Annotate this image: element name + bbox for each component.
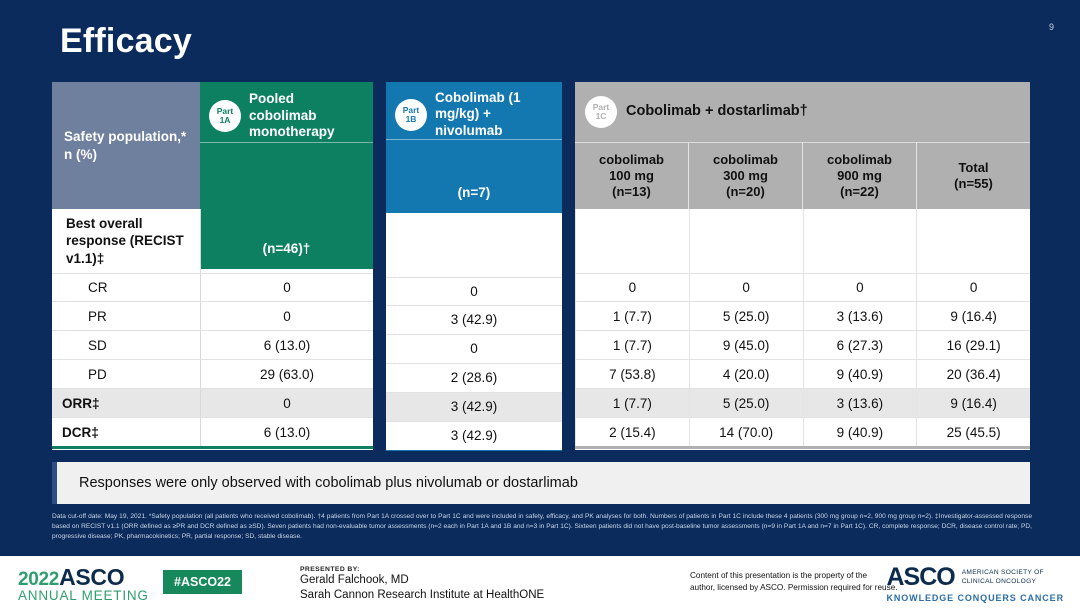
table-row: 1 (7.7) 9 (45.0) 6 (27.3) 16 (29.1) bbox=[575, 330, 1030, 359]
spacer-cell bbox=[916, 209, 1030, 273]
row-value: 5 (25.0) bbox=[689, 389, 803, 417]
row-value: 7 (53.8) bbox=[575, 360, 689, 388]
asco-annual-meeting-logo: 2022ASCO ANNUAL MEETING bbox=[18, 564, 149, 603]
spacer-cell bbox=[386, 213, 562, 277]
asco-sub-line-1: AMERICAN SOCIETY OF bbox=[962, 569, 1044, 578]
part-badge-1b: Part 1B bbox=[395, 99, 427, 131]
table-row: PD 29 (63.0) bbox=[52, 359, 373, 388]
table-row: 0 bbox=[386, 277, 562, 305]
row-value: 0 bbox=[386, 335, 562, 363]
subheader-total: Total (n=55) bbox=[916, 142, 1030, 209]
footnotes: Data cut-off date: May 19, 2021. *Safety… bbox=[52, 512, 1032, 542]
row-value: 3 (42.9) bbox=[386, 393, 562, 421]
table-row: 2 (15.4) 14 (70.0) 9 (40.9) 25 (45.5) bbox=[575, 417, 1030, 446]
part1b-accent-bar bbox=[386, 450, 562, 451]
row-value: 0 bbox=[689, 274, 803, 301]
efficacy-table: Safety population,* n (%) Part 1A Pooled… bbox=[52, 82, 1030, 450]
block-gap bbox=[373, 82, 386, 450]
row-value: 3 (13.6) bbox=[803, 389, 917, 417]
table-row: PR 0 bbox=[52, 301, 373, 330]
spacer-cell bbox=[575, 209, 689, 273]
asco-society-logo: ASCO AMERICAN SOCIETY OF CLINICAL ONCOLO… bbox=[886, 565, 1064, 603]
row-value: 6 (27.3) bbox=[803, 331, 917, 359]
table-row: 2 (28.6) bbox=[386, 363, 562, 392]
subheader-cobolimab-900: cobolimab 900 mg (n=22) bbox=[802, 142, 916, 209]
part1b-n: (n=7) bbox=[386, 139, 562, 212]
presented-by-caption: PRESENTED BY: bbox=[300, 566, 544, 573]
row-value: 1 (7.7) bbox=[575, 302, 689, 330]
table-row: 3 (42.9) bbox=[386, 392, 562, 421]
row-value: 0 bbox=[200, 302, 373, 330]
part1a-header: Part 1A Pooled cobolimab monotherapy (n=… bbox=[200, 82, 373, 209]
part1b-title: Cobolimab (1 mg/kg) + nivolumab bbox=[435, 90, 553, 139]
table-row: DCR‡ 6 (13.0) bbox=[52, 417, 373, 446]
row-value: 5 (25.0) bbox=[689, 302, 803, 330]
asco-tagline: KNOWLEDGE CONQUERS CANCER bbox=[886, 593, 1064, 603]
table-row: 1 (7.7) 5 (25.0) 3 (13.6) 9 (16.4) bbox=[575, 301, 1030, 330]
subheader-cobolimab-100: cobolimab 100 mg (n=13) bbox=[575, 142, 688, 209]
row-label: PD bbox=[52, 360, 200, 388]
part1c-title: Cobolimab + dostarlimab† bbox=[626, 103, 808, 121]
row-value: 9 (45.0) bbox=[689, 331, 803, 359]
row-value: 2 (28.6) bbox=[386, 364, 562, 392]
table-row: 7 (53.8) 4 (20.0) 9 (40.9) 20 (36.4) bbox=[575, 359, 1030, 388]
row-value: 6 (13.0) bbox=[200, 418, 373, 446]
asco-logo-subtitle: AMERICAN SOCIETY OF CLINICAL ONCOLOGY bbox=[962, 565, 1044, 587]
table-row: CR 0 bbox=[52, 273, 373, 301]
table-block-part1b: Part 1B Cobolimab (1 mg/kg) + nivolumab … bbox=[386, 82, 562, 450]
row-value: 0 bbox=[200, 274, 373, 301]
table-row: 3 (42.9) bbox=[386, 305, 562, 334]
row-value: 9 (40.9) bbox=[803, 418, 917, 446]
row-value: 3 (42.9) bbox=[386, 306, 562, 334]
row-value: 1 (7.7) bbox=[575, 389, 689, 417]
table-block-part1c: Part 1C Cobolimab + dostarlimab† cobolim… bbox=[575, 82, 1030, 450]
row-value: 16 (29.1) bbox=[916, 331, 1030, 359]
row-value: 9 (16.4) bbox=[916, 302, 1030, 330]
section-header-row: Best overall response (RECIST v1.1)‡ bbox=[52, 209, 373, 273]
row-value: 4 (20.0) bbox=[689, 360, 803, 388]
presenter-info: PRESENTED BY: Gerald Falchook, MD Sarah … bbox=[300, 566, 544, 603]
row-label: ORR‡ bbox=[52, 389, 200, 417]
page-title: Efficacy bbox=[60, 22, 192, 61]
subheader-cobolimab-300: cobolimab 300 mg (n=20) bbox=[688, 142, 802, 209]
row-value: 3 (13.6) bbox=[803, 302, 917, 330]
section-header-spacer-b bbox=[386, 213, 562, 277]
table-row: 0 bbox=[386, 334, 562, 363]
part-badge-1c: Part 1C bbox=[585, 96, 617, 128]
slide-number: 9 bbox=[1049, 22, 1054, 32]
table-row: 1 (7.7) 5 (25.0) 3 (13.6) 9 (16.4) bbox=[575, 388, 1030, 417]
table-row: 0 0 0 0 bbox=[575, 273, 1030, 301]
row-value: 20 (36.4) bbox=[916, 360, 1030, 388]
row-label: DCR‡ bbox=[52, 418, 200, 446]
key-message-banner: Responses were only observed with coboli… bbox=[52, 462, 1030, 504]
footer-annual-meeting: ANNUAL MEETING bbox=[18, 588, 149, 603]
row-value: 1 (7.7) bbox=[575, 331, 689, 359]
part1c-subheaders: cobolimab 100 mg (n=13) cobolimab 300 mg… bbox=[575, 142, 1030, 209]
row-value: 0 bbox=[575, 274, 689, 301]
table-row: ORR‡ 0 bbox=[52, 388, 373, 417]
row-value: 29 (63.0) bbox=[200, 360, 373, 388]
part1a-accent-bar bbox=[52, 446, 373, 449]
row-value: 0 bbox=[803, 274, 917, 301]
asco-logo-text: ASCO bbox=[886, 565, 954, 590]
table-row: SD 6 (13.0) bbox=[52, 330, 373, 359]
presenter-affiliation: Sarah Cannon Research Institute at Healt… bbox=[300, 588, 544, 603]
rights-notice: Content of this presentation is the prop… bbox=[690, 570, 898, 594]
part1c-title-cell: Part 1C Cobolimab + dostarlimab† bbox=[575, 82, 1030, 142]
section-header-spacer-a bbox=[200, 209, 373, 273]
row-value: 9 (16.4) bbox=[916, 389, 1030, 417]
part1a-title-cell: Part 1A Pooled cobolimab monotherapy bbox=[200, 82, 373, 142]
rights-line-2: author, licensed by ASCO. Permission req… bbox=[690, 582, 898, 594]
part-badge-1a: Part 1A bbox=[209, 100, 241, 132]
asco-sub-line-2: CLINICAL ONCOLOGY bbox=[962, 578, 1044, 587]
section-header-spacer-c bbox=[575, 209, 1030, 273]
header-row-top: Safety population,* n (%) Part 1A Pooled… bbox=[52, 82, 373, 209]
row-value: 14 (70.0) bbox=[689, 418, 803, 446]
safety-population-header: Safety population,* n (%) bbox=[52, 82, 200, 209]
table-row: 3 (42.9) bbox=[386, 421, 562, 450]
part1a-title: Pooled cobolimab monotherapy bbox=[249, 91, 364, 140]
presenter-name: Gerald Falchook, MD bbox=[300, 573, 544, 588]
section-header-label: Best overall response (RECIST v1.1)‡ bbox=[52, 209, 200, 273]
part1b-title-cell: Part 1B Cobolimab (1 mg/kg) + nivolumab bbox=[386, 82, 562, 139]
banner-text: Responses were only observed with coboli… bbox=[57, 475, 578, 491]
row-label: PR bbox=[52, 302, 200, 330]
row-value: 0 bbox=[200, 389, 373, 417]
spacer-cell bbox=[803, 209, 917, 273]
slide-canvas: 9 Efficacy Safety population,* n (%) Par… bbox=[0, 0, 1080, 608]
row-value: 3 (42.9) bbox=[386, 422, 562, 450]
table-block-part1a: Safety population,* n (%) Part 1A Pooled… bbox=[52, 82, 373, 450]
slide-footer: 2022ASCO ANNUAL MEETING #ASCO22 PRESENTE… bbox=[0, 556, 1080, 608]
row-value: 6 (13.0) bbox=[200, 331, 373, 359]
footer-asco-wordmark: ASCO bbox=[59, 564, 124, 590]
row-value: 9 (40.9) bbox=[803, 360, 917, 388]
part1c-accent-bar bbox=[575, 446, 1030, 449]
rights-line-1: Content of this presentation is the prop… bbox=[690, 570, 898, 582]
row-value: 0 bbox=[916, 274, 1030, 301]
row-label: CR bbox=[52, 274, 200, 301]
row-value: 25 (45.5) bbox=[916, 418, 1030, 446]
block-gap bbox=[562, 82, 575, 450]
row-value: 0 bbox=[386, 278, 562, 305]
spacer-cell bbox=[689, 209, 803, 273]
row-value: 2 (15.4) bbox=[575, 418, 689, 446]
footer-year: 2022 bbox=[18, 569, 59, 590]
row-label: SD bbox=[52, 331, 200, 359]
hashtag-badge: #ASCO22 bbox=[163, 570, 242, 594]
